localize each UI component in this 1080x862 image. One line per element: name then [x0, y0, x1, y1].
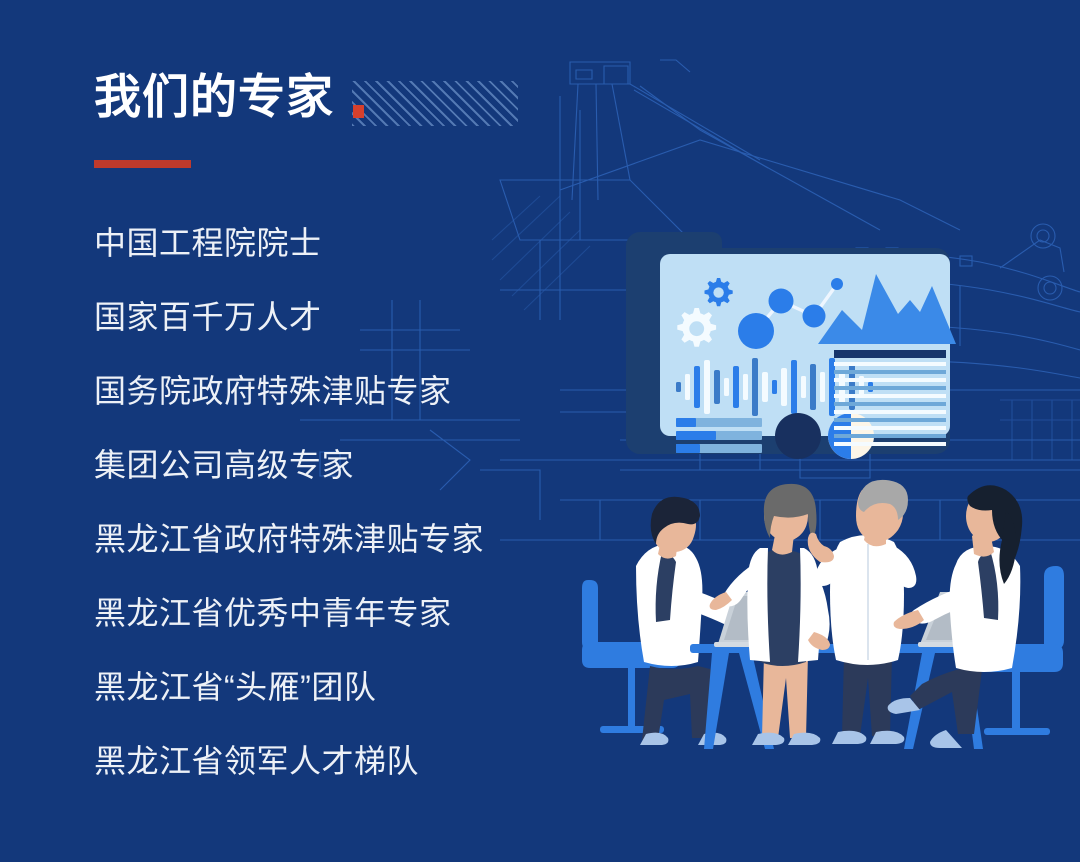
page-title: 我们的专家	[94, 66, 334, 128]
analytics-dashboard-panel	[626, 232, 956, 459]
list-item: 集团公司高级专家	[94, 428, 614, 502]
title-block: 我们的专家	[94, 66, 564, 186]
list-item: 中国工程院院士	[94, 206, 614, 280]
list-item: 国家百千万人才	[94, 280, 614, 354]
meeting-scene	[582, 480, 1064, 749]
red-underline-rule	[94, 160, 191, 168]
dark-circle	[775, 413, 821, 459]
gear-icon-small	[705, 278, 733, 306]
list-item: 国务院政府特殊津贴专家	[94, 354, 614, 428]
diagonal-hatch-accent	[352, 81, 518, 126]
expert-credentials-list: 中国工程院院士 国家百千万人才 国务院政府特殊津贴专家 集团公司高级专家 黑龙江…	[94, 206, 614, 798]
list-item: 黑龙江省“头雁”团队	[94, 650, 614, 724]
seated-person-right	[888, 485, 1023, 748]
list-item: 黑龙江省政府特殊津贴专家	[94, 502, 614, 576]
expert-slide: 我们的专家 中国工程院院士 国家百千万人才 国务院政府特殊津贴专家 集团公司高级…	[0, 0, 1080, 862]
progress-bars	[676, 418, 762, 453]
list-item: 黑龙江省领军人才梯队	[94, 724, 614, 798]
red-square-accent	[353, 105, 364, 118]
list-item: 黑龙江省优秀中青年专家	[94, 576, 614, 650]
gear-icon-large	[677, 308, 716, 347]
experts-meeting-illustration	[576, 214, 1080, 754]
